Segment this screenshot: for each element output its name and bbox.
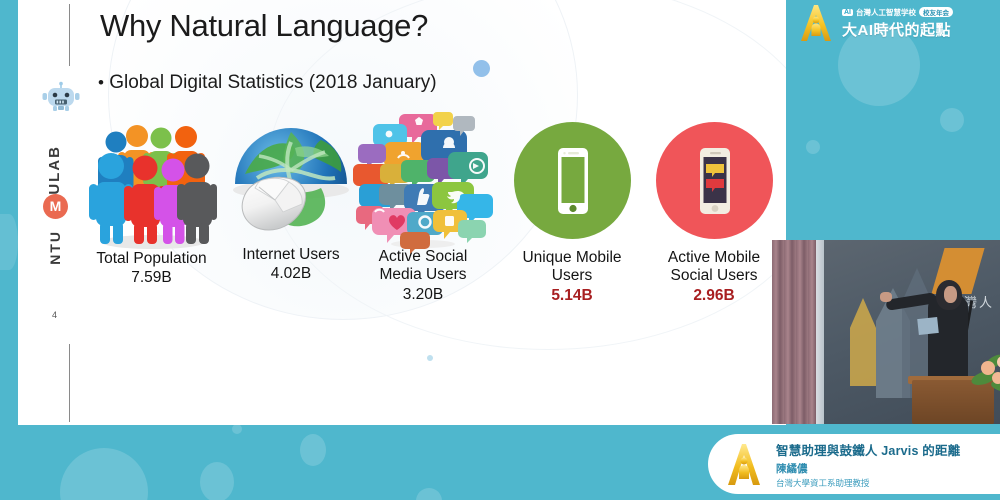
stat-active-mobile-social-users: Active Mobile Social Users 2.96B (638, 122, 786, 305)
page-title: Why Natural Language? (100, 8, 428, 44)
globe-mouse-icon (229, 118, 354, 246)
speaker-video-inset[interactable]: 台灣人 2019 11/9 (772, 240, 1000, 424)
social-media-bubbles-icon (353, 108, 493, 248)
people-group-icon (87, 110, 217, 250)
background-bubble (940, 108, 964, 132)
stat-value: 2.96B (638, 286, 786, 305)
background-bubble (300, 434, 326, 466)
page-number: 4 (52, 310, 57, 320)
speaker-face (944, 286, 957, 303)
speaker-device (917, 317, 939, 335)
flower-arrangement (972, 340, 1000, 398)
ai-mark-badge: AI (842, 9, 853, 16)
event-band-texts: AI 台灣人工智慧学校 校友年会 大AI時代的起點 (842, 7, 953, 40)
slide-bullet-line: • Global Digital Statistics (2018 Januar… (98, 72, 437, 94)
event-title: 大AI時代的起點 (842, 19, 953, 40)
event-branding-band: AI 台灣人工智慧学校 校友年会 大AI時代的起點 (786, 0, 1000, 46)
stat-value: 3.20B (344, 285, 502, 304)
bullet-dot: • (98, 73, 104, 92)
miulab-label: IULAB (46, 145, 63, 201)
stage-wall-edge (816, 240, 824, 424)
speaker-hand (880, 292, 892, 302)
event-pill-badge: 校友年会 (919, 7, 953, 17)
stage-curtain (772, 240, 816, 424)
slide-canvas: IULAB M NTU 4 Why Natural Language? • Gl… (18, 0, 786, 425)
lower-third-banner: 智慧助理與鼓鐵人 Jarvis 的距離 陳繘儂 台灣大學資工系助理教授 (708, 434, 1000, 494)
talk-title: 智慧助理與鼓鐵人 Jarvis 的距離 (776, 440, 960, 459)
stat-unique-mobile-users: Unique Mobile Users 5.14B (496, 122, 648, 305)
stage-decor-shape (850, 298, 876, 386)
taiwan-ai-academy-logo (794, 3, 838, 43)
stat-label: Active Social Media Users (344, 248, 502, 285)
stat-value: 5.14B (496, 286, 648, 305)
taiwan-ai-academy-logo (720, 441, 768, 487)
screen-root: IULAB M NTU 4 Why Natural Language? • Gl… (0, 0, 1000, 500)
background-bubble (416, 488, 442, 500)
background-bubble (60, 448, 148, 500)
smartphone-circle-icon (514, 122, 631, 249)
background-bubble (0, 214, 18, 270)
event-organization: 台灣人工智慧学校 (856, 7, 916, 18)
decorative-blue-dot (473, 60, 490, 77)
slide-bullet-text: Global Digital Statistics (2018 January) (109, 72, 436, 93)
speaker-affiliation: 台灣大學資工系助理教授 (776, 477, 960, 489)
event-subtitle-row: AI 台灣人工智慧学校 校友年会 (842, 7, 953, 18)
ntu-label: NTU (47, 230, 63, 265)
background-bubble (200, 462, 234, 500)
smartphone-chat-circle-icon (656, 122, 773, 249)
speaker-name: 陳繘儂 (776, 461, 960, 476)
background-bubble (232, 424, 242, 434)
lower-third-texts: 智慧助理與鼓鐵人 Jarvis 的距離 陳繘儂 台灣大學資工系助理教授 (776, 440, 960, 489)
decorative-blue-dot (427, 355, 433, 361)
stat-label: Unique Mobile Users (496, 249, 648, 286)
stat-active-social-media-users: Active Social Media Users 3.20B (344, 108, 502, 304)
stat-label: Active Mobile Social Users (638, 249, 786, 286)
background-bubble (806, 140, 820, 154)
video-stage-background: 台灣人 2019 11/9 (824, 240, 1000, 424)
